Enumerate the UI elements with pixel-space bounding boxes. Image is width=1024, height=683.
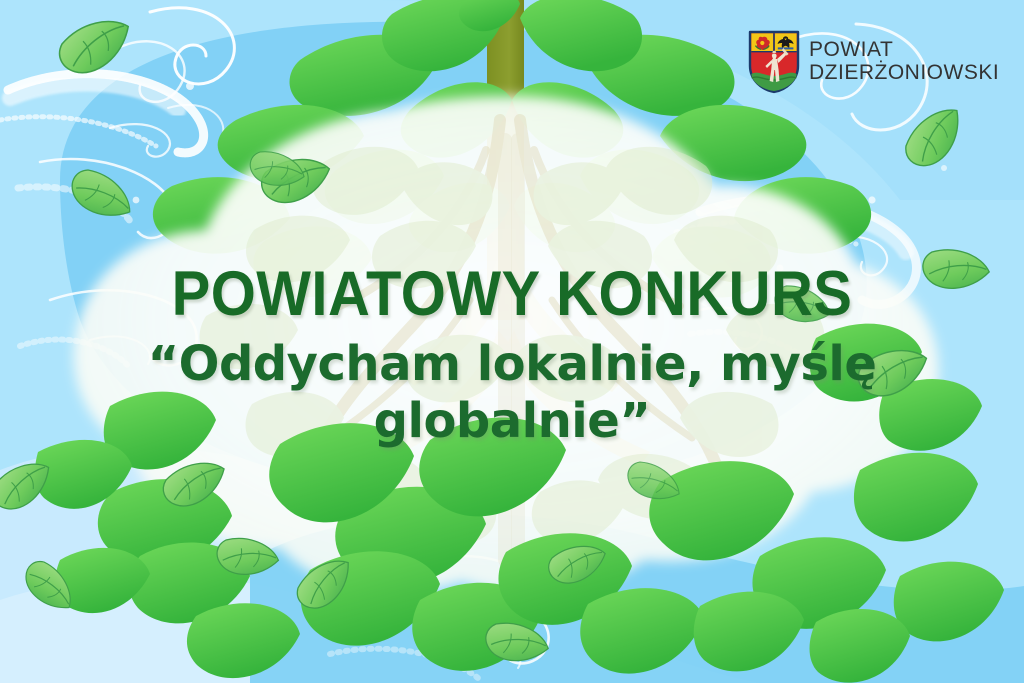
poster-subtitle: “Oddycham lokalnie, myślę globalnie” [90, 336, 934, 449]
logo-text-block: POWIAT DZIERŻONIOWSKI [809, 39, 999, 84]
poster-canvas: POWIAT DZIERŻONIOWSKI POWIATOWY KONKURS … [0, 0, 1024, 683]
headline-block: POWIATOWY KONKURS “Oddycham lokalnie, my… [0, 258, 1024, 449]
powiat-dzierzoniowski-logo: POWIAT DZIERŻONIOWSKI [748, 30, 999, 94]
logo-line-dzierzoniowski: DZIERŻONIOWSKI [809, 62, 999, 85]
poster-title: POWIATOWY KONKURS [124, 258, 900, 330]
logo-line-powiat: POWIAT [809, 39, 999, 62]
dzierzoniowski-coat-of-arms-icon [748, 30, 800, 94]
